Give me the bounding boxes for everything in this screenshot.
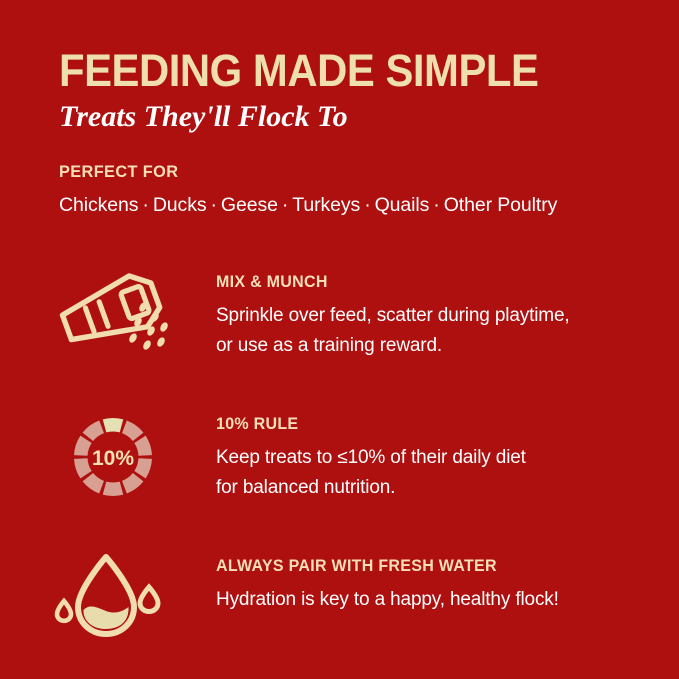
ten-percent-donut-icon: 10% — [48, 405, 188, 515]
animal-name: Quails — [375, 194, 430, 216]
perfect-for-animal-list: Chickens·Ducks·Geese·Turkeys·Quails·Othe… — [59, 194, 669, 217]
list-separator: · — [207, 194, 221, 216]
feature-body: Hydration is key to a happy, healthy flo… — [216, 585, 661, 615]
perfect-for-section: PERFECT FOR Chickens·Ducks·Geese·Turkeys… — [59, 162, 669, 217]
infographic-panel: FEEDING MADE SIMPLE Treats They'll Flock… — [0, 0, 679, 679]
animal-name: Geese — [221, 194, 278, 216]
feature-body-line: or use as a training reward. — [216, 335, 442, 356]
donut-segment — [122, 473, 143, 494]
list-separator: · — [360, 194, 374, 216]
feature-body: Keep treats to ≤10% of their daily diet … — [216, 443, 661, 503]
feature-title: ALWAYS PAIR WITH FRESH WATER — [216, 557, 648, 576]
feature-body-line: Keep treats to ≤10% of their daily diet — [216, 447, 526, 468]
feature-body-line: for balanced nutrition. — [216, 477, 395, 498]
feature-body-line: Hydration is key to a happy, healthy flo… — [216, 589, 559, 610]
water-droplet-icon — [48, 545, 188, 655]
feed-packet-sprinkle-icon — [48, 265, 188, 375]
header: FEEDING MADE SIMPLE Treats They'll Flock… — [59, 48, 659, 134]
feature-body-line: Sprinkle over feed, scatter during playt… — [216, 305, 570, 326]
page-subtitle: Treats They'll Flock To — [59, 100, 659, 134]
feature-title: 10% RULE — [216, 415, 648, 434]
donut-segment — [74, 436, 92, 456]
donut-segment — [122, 421, 143, 442]
feature-text-fresh-water: ALWAYS PAIR WITH FRESH WATER Hydration i… — [216, 557, 661, 615]
donut-center-label: 10% — [92, 447, 134, 470]
perfect-for-label: PERFECT FOR — [59, 162, 645, 182]
donut-segment-active — [103, 418, 124, 432]
animal-name: Chickens — [59, 194, 138, 216]
feature-title: MIX & MUNCH — [216, 273, 648, 292]
donut-segment — [134, 458, 152, 478]
animal-name: Other Poultry — [444, 194, 558, 216]
list-separator: · — [429, 194, 443, 216]
page-title: FEEDING MADE SIMPLE — [59, 48, 617, 94]
feature-text-ten-percent-rule: 10% RULE Keep treats to ≤10% of their da… — [216, 415, 661, 503]
list-separator: · — [138, 194, 152, 216]
animal-name: Ducks — [153, 194, 207, 216]
donut-segment — [83, 473, 104, 494]
feature-body: Sprinkle over feed, scatter during playt… — [216, 301, 661, 361]
donut-segment — [74, 458, 92, 478]
animal-name: Turkeys — [292, 194, 360, 216]
list-separator: · — [278, 194, 292, 216]
feature-text-mix-and-munch: MIX & MUNCH Sprinkle over feed, scatter … — [216, 273, 661, 361]
donut-segment — [134, 436, 152, 456]
donut-segment — [83, 421, 104, 442]
donut-segment — [103, 482, 124, 496]
